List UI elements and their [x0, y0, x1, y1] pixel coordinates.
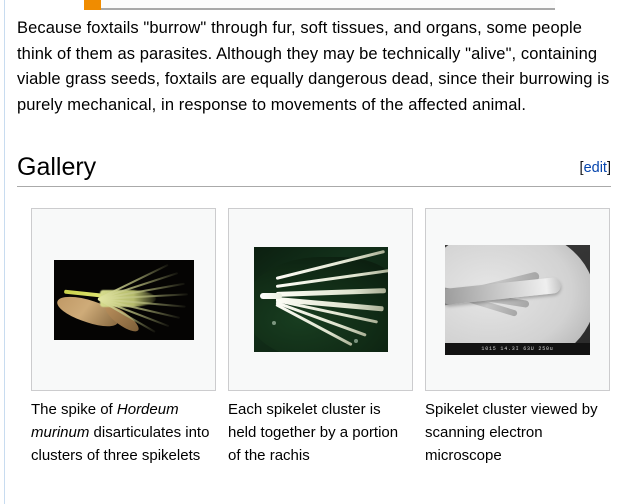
- sem-info-bar: 1015 14.3I 63U 250u: [445, 343, 590, 355]
- gallery-item: Each spikelet cluster is held together b…: [228, 208, 413, 467]
- gallery-caption: Each spikelet cluster is held together b…: [228, 398, 413, 467]
- thumbnail-box[interactable]: 1015 14.3I 63U 250u: [425, 208, 610, 391]
- foxtail-spike-image[interactable]: [54, 260, 194, 340]
- caption-before: The spike of: [31, 401, 117, 418]
- gallery-item: The spike of Hordeum murinum disarticula…: [31, 208, 216, 467]
- gallery-caption: Spikelet cluster viewed by scanning elec…: [425, 398, 610, 467]
- edit-section-link[interactable]: [edit]: [580, 159, 611, 177]
- article-body: Because foxtails "burrow" through fur, s…: [17, 16, 611, 118]
- thumbnail-box[interactable]: [31, 208, 216, 391]
- spikelet-cluster-image[interactable]: [254, 247, 388, 352]
- spike-head: [98, 274, 190, 324]
- gallery-caption: The spike of Hordeum murinum disarticula…: [31, 398, 216, 467]
- left-content-rule: [4, 0, 5, 504]
- bracket-close: ]: [607, 160, 611, 176]
- thumbnail-box[interactable]: [228, 208, 413, 391]
- tab-strip-underline: [84, 8, 555, 10]
- edit-link-label[interactable]: edit: [584, 160, 607, 176]
- gallery: The spike of Hordeum murinum disarticula…: [31, 208, 621, 467]
- active-tab-marker[interactable]: [84, 0, 101, 10]
- caption-before: Spikelet cluster viewed by scanning elec…: [425, 401, 598, 464]
- page-title: Gallery: [17, 152, 96, 182]
- tab-strip-fill: [101, 0, 555, 8]
- cluster-tip: [260, 293, 282, 299]
- article-paragraph: Because foxtails "burrow" through fur, s…: [17, 16, 611, 118]
- water-droplet: [272, 321, 276, 325]
- section-header: Gallery [edit]: [17, 152, 611, 186]
- gallery-item: 1015 14.3I 63U 250u Spikelet cluster vie…: [425, 208, 610, 467]
- section-divider: [17, 186, 611, 187]
- sem-micrograph-image[interactable]: 1015 14.3I 63U 250u: [445, 245, 590, 355]
- water-droplet: [354, 339, 358, 343]
- tab-strip: [0, 0, 627, 11]
- caption-before: Each spikelet cluster is held together b…: [228, 401, 398, 464]
